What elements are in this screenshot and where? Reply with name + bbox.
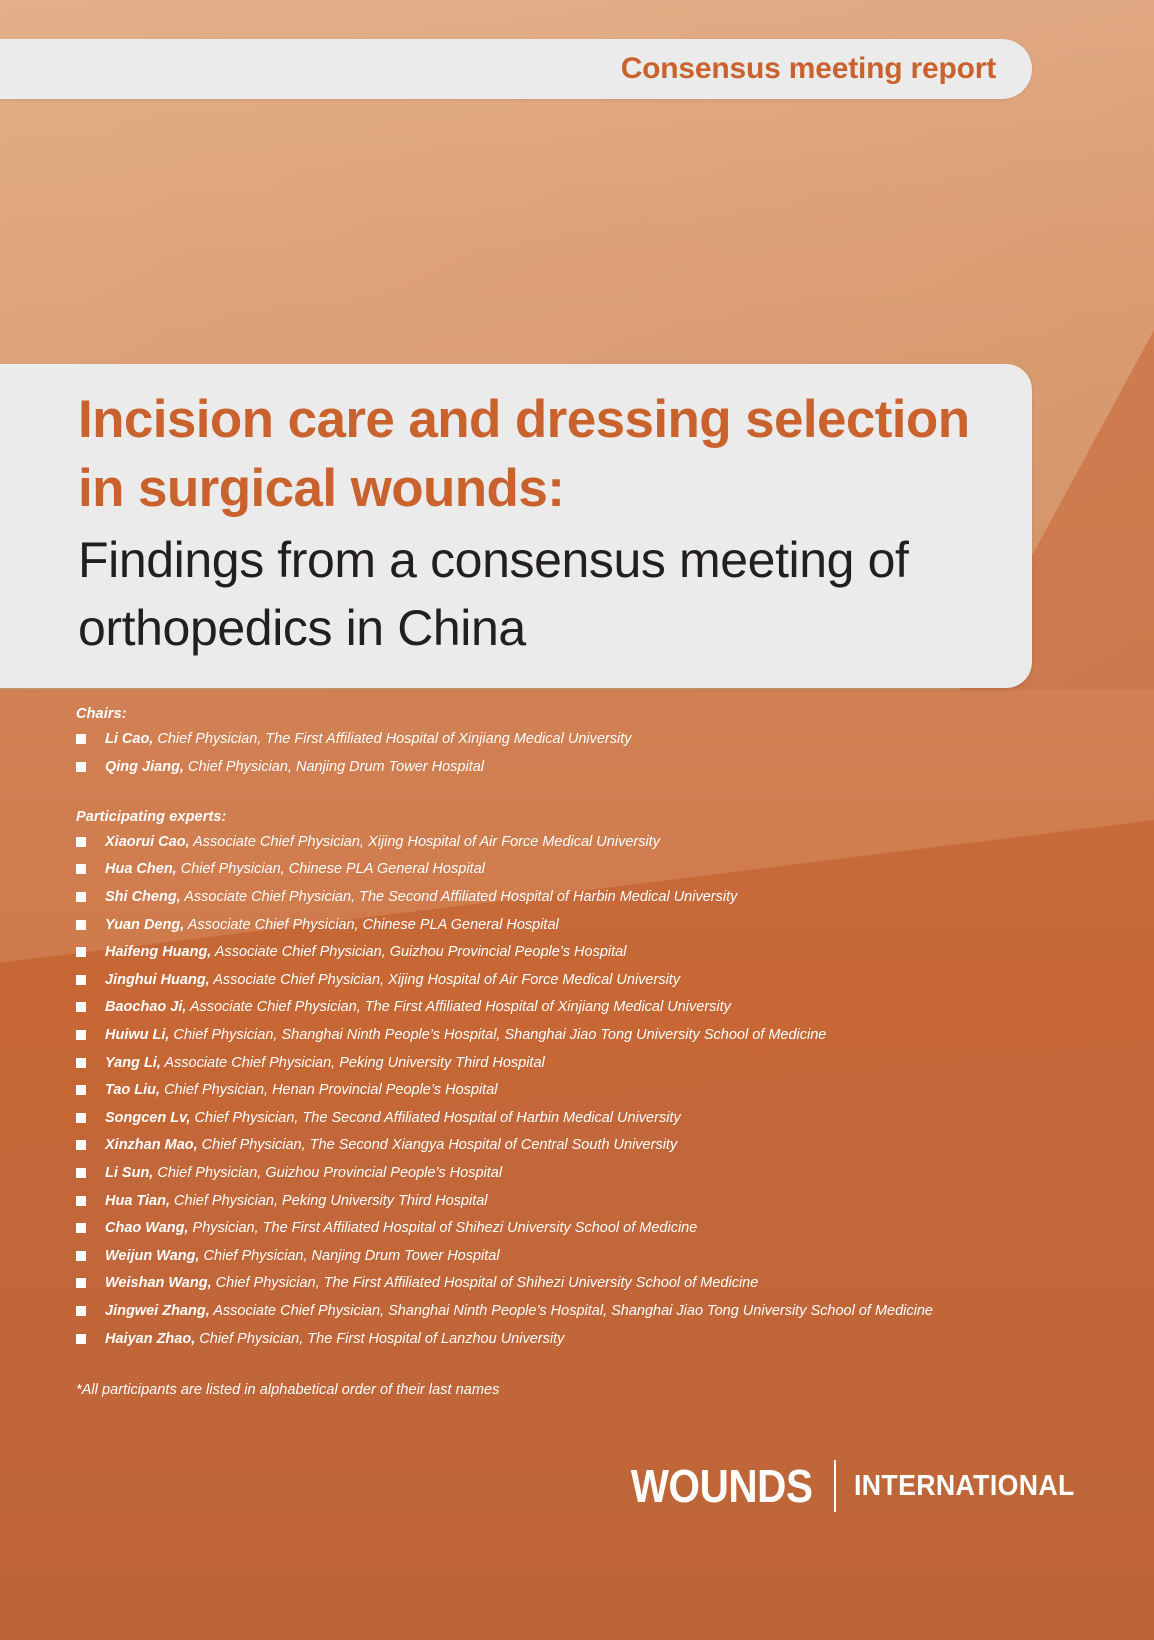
square-bullet-icon: [76, 975, 86, 985]
page-subtitle: Findings from a consensus meeting of ort…: [78, 526, 972, 662]
person-name: Yang Li,: [105, 1055, 161, 1071]
person-name: Haifeng Huang,: [105, 944, 211, 960]
person-name: Qing Jiang,: [105, 759, 184, 775]
list-item: Li Cao, Chief Physician, The First Affil…: [76, 731, 1086, 748]
list-item: Hua Tian, Chief Physician, Peking Univer…: [76, 1193, 1086, 1210]
square-bullet-icon: [76, 734, 86, 744]
person-affiliation: Chief Physician, Shanghai Ninth People’s…: [169, 1027, 826, 1043]
list-item: Xinzhan Mao, Chief Physician, The Second…: [76, 1137, 1086, 1154]
list-item: Weijun Wang, Chief Physician, Nanjing Dr…: [76, 1248, 1086, 1265]
person-name: Shi Cheng,: [105, 889, 181, 905]
square-bullet-icon: [76, 1140, 86, 1150]
list-item: Baochao Ji, Associate Chief Physician, T…: [76, 999, 1086, 1016]
person-affiliation: Associate Chief Physician, The Second Af…: [181, 889, 738, 905]
list-item: Shi Cheng, Associate Chief Physician, Th…: [76, 889, 1086, 906]
square-bullet-icon: [76, 1168, 86, 1178]
person-name: Hua Chen,: [105, 861, 177, 877]
square-bullet-icon: [76, 1058, 86, 1068]
person-name: Jinghui Huang,: [105, 972, 210, 988]
list-item: Yang Li, Associate Chief Physician, Peki…: [76, 1055, 1086, 1072]
person-affiliation: Associate Chief Physician, Chinese PLA G…: [184, 917, 559, 933]
square-bullet-icon: [76, 837, 86, 847]
person-name: Weishan Wang,: [105, 1275, 212, 1291]
person-affiliation: Chief Physician, Guizhou Provincial Peop…: [153, 1165, 502, 1181]
square-bullet-icon: [76, 1306, 86, 1316]
participants-section: Chairs: Li Cao, Chief Physician, The Fir…: [76, 706, 1086, 1398]
page-title: Incision care and dressing selection in …: [78, 386, 972, 524]
person-affiliation: Chief Physician, The First Hospital of L…: [195, 1331, 564, 1347]
square-bullet-icon: [76, 892, 86, 902]
experts-list: Xiaorui Cao, Associate Chief Physician, …: [76, 834, 1086, 1348]
person-affiliation: Chief Physician, Nanjing Drum Tower Hosp…: [184, 759, 484, 775]
person-affiliation: Associate Chief Physician, Shanghai Nint…: [210, 1303, 933, 1319]
chairs-list: Li Cao, Chief Physician, The First Affil…: [76, 731, 1086, 776]
wounds-international-logo: WOUNDS INTERNATIONAL: [606, 1460, 1094, 1512]
list-item: Weishan Wang, Chief Physician, The First…: [76, 1275, 1086, 1292]
square-bullet-icon: [76, 1278, 86, 1288]
list-item: Songcen Lv, Chief Physician, The Second …: [76, 1110, 1086, 1127]
header-tab-label: Consensus meeting report: [621, 52, 996, 86]
person-affiliation: Associate Chief Physician, Xijing Hospit…: [210, 972, 680, 988]
person-affiliation: Chief Physician, Chinese PLA General Hos…: [177, 861, 485, 877]
list-item: Chao Wang, Physician, The First Affiliat…: [76, 1220, 1086, 1237]
person-name: Chao Wang,: [105, 1220, 189, 1236]
list-item: Jingwei Zhang, Associate Chief Physician…: [76, 1303, 1086, 1320]
logo-wordmark-primary: WOUNDS: [630, 1463, 812, 1509]
person-name: Hua Tian,: [105, 1193, 170, 1209]
list-item: Hua Chen, Chief Physician, Chinese PLA G…: [76, 861, 1086, 878]
title-card: Incision care and dressing selection in …: [0, 364, 1032, 688]
square-bullet-icon: [76, 1334, 86, 1344]
person-affiliation: Chief Physician, The Second Affiliated H…: [190, 1110, 680, 1126]
list-item: Haiyan Zhao, Chief Physician, The First …: [76, 1331, 1086, 1348]
person-affiliation: Physician, The First Affiliated Hospital…: [189, 1220, 698, 1236]
square-bullet-icon: [76, 920, 86, 930]
person-affiliation: Chief Physician, Henan Provincial People…: [160, 1082, 497, 1098]
person-name: Xiaorui Cao,: [105, 834, 190, 850]
list-item: Tao Liu, Chief Physician, Henan Provinci…: [76, 1082, 1086, 1099]
list-item: Huiwu Li, Chief Physician, Shanghai Nint…: [76, 1027, 1086, 1044]
person-name: Songcen Lv,: [105, 1110, 190, 1126]
list-item: Xiaorui Cao, Associate Chief Physician, …: [76, 834, 1086, 851]
square-bullet-icon: [76, 762, 86, 772]
header-tab: Consensus meeting report: [0, 39, 1032, 99]
square-bullet-icon: [76, 1223, 86, 1233]
person-affiliation: Associate Chief Physician, Guizhou Provi…: [211, 944, 626, 960]
list-item: Jinghui Huang, Associate Chief Physician…: [76, 972, 1086, 989]
person-name: Li Sun,: [105, 1165, 153, 1181]
square-bullet-icon: [76, 864, 86, 874]
square-bullet-icon: [76, 947, 86, 957]
square-bullet-icon: [76, 1113, 86, 1123]
list-item: Qing Jiang, Chief Physician, Nanjing Dru…: [76, 759, 1086, 776]
experts-heading: Participating experts:: [76, 809, 1086, 825]
square-bullet-icon: [76, 1196, 86, 1206]
person-affiliation: Chief Physician, Nanjing Drum Tower Hosp…: [200, 1248, 500, 1264]
square-bullet-icon: [76, 1085, 86, 1095]
person-affiliation: Associate Chief Physician, Xijing Hospit…: [190, 834, 660, 850]
logo-wordmark-secondary: INTERNATIONAL: [854, 1472, 1075, 1501]
cover-page: Consensus meeting report Incision care a…: [0, 0, 1154, 1640]
person-name: Huiwu Li,: [105, 1027, 169, 1043]
person-name: Yuan Deng,: [105, 917, 184, 933]
list-item: Yuan Deng, Associate Chief Physician, Ch…: [76, 917, 1086, 934]
logo-divider-rule: [834, 1460, 836, 1512]
person-affiliation: Chief Physician, Peking University Third…: [170, 1193, 488, 1209]
person-name: Xinzhan Mao,: [105, 1137, 198, 1153]
person-name: Baochao Ji,: [105, 999, 186, 1015]
person-affiliation: Chief Physician, The Second Xiangya Hosp…: [198, 1137, 678, 1153]
square-bullet-icon: [76, 1030, 86, 1040]
list-item: Haifeng Huang, Associate Chief Physician…: [76, 944, 1086, 961]
person-name: Haiyan Zhao,: [105, 1331, 195, 1347]
person-affiliation: Associate Chief Physician, Peking Univer…: [161, 1055, 545, 1071]
person-affiliation: Chief Physician, The First Affiliated Ho…: [153, 731, 631, 747]
chairs-heading: Chairs:: [76, 706, 1086, 722]
square-bullet-icon: [76, 1251, 86, 1261]
person-name: Tao Liu,: [105, 1082, 160, 1098]
footnote: *All participants are listed in alphabet…: [76, 1382, 1086, 1398]
person-name: Jingwei Zhang,: [105, 1303, 210, 1319]
list-item: Li Sun, Chief Physician, Guizhou Provinc…: [76, 1165, 1086, 1182]
square-bullet-icon: [76, 1002, 86, 1012]
person-name: Li Cao,: [105, 731, 153, 747]
person-name: Weijun Wang,: [105, 1248, 200, 1264]
person-affiliation: Associate Chief Physician, The First Aff…: [186, 999, 731, 1015]
person-affiliation: Chief Physician, The First Affiliated Ho…: [212, 1275, 759, 1291]
